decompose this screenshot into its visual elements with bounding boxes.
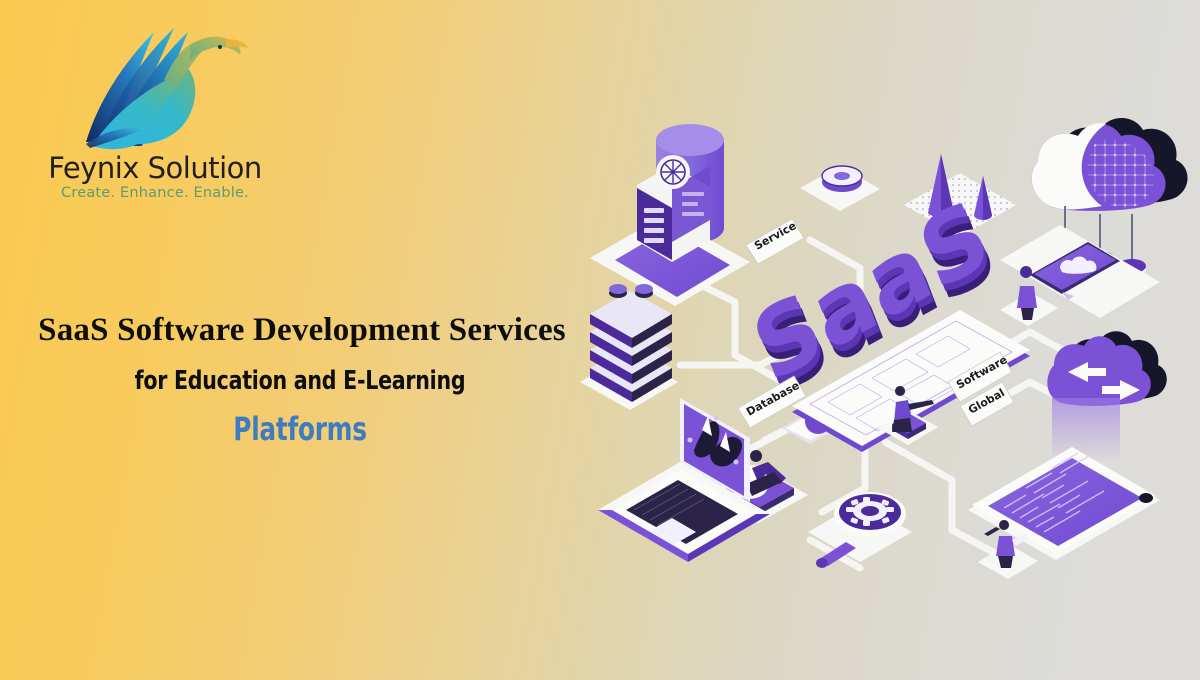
disc-stack	[800, 166, 880, 211]
brand-tagline: Create. Enhance. Enable.	[30, 186, 280, 201]
brand-logo[interactable]: Feynix Solution Create. Enhance. Enable.	[30, 14, 280, 209]
brand-name: Feynix Solution	[30, 154, 280, 183]
headline-block: SaaS Software Development Services for E…	[0, 312, 600, 447]
headline-line-1: SaaS Software Development Services	[0, 312, 600, 348]
code-tablet	[968, 447, 1160, 560]
hero-banner: Feynix Solution Create. Enhance. Enable.…	[0, 0, 1200, 680]
headline-line-3: Platforms	[42, 412, 558, 447]
headline-line-2: for Education and E-Learning	[36, 367, 564, 396]
saas-isometric-illustration: SaaS SaaS SaaS	[560, 110, 1200, 580]
label-service: Service	[746, 219, 804, 264]
phoenix-bird-icon	[68, 14, 258, 154]
server-stack	[580, 284, 678, 410]
magnifier-gear	[808, 492, 912, 568]
laptop-waveform	[598, 398, 770, 562]
server-rack-on-tablet	[590, 155, 750, 306]
